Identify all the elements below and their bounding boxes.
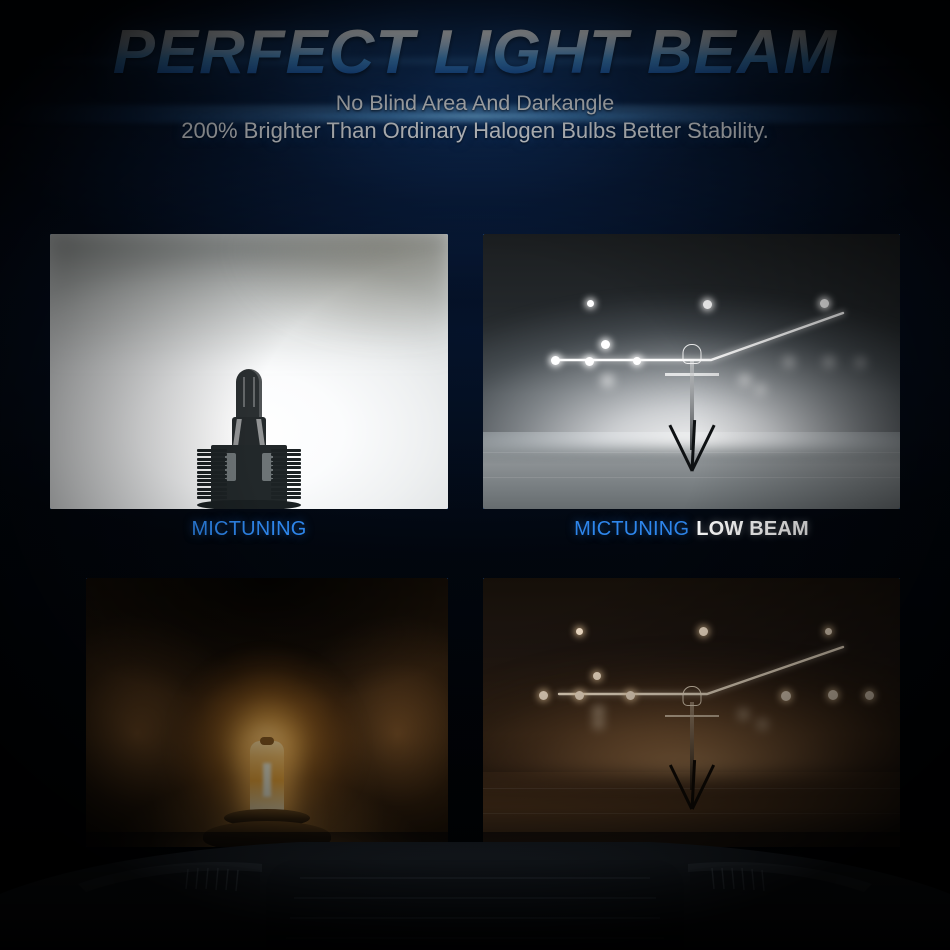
product-banner: PERFECT LIGHT BEAM No Blind Area And Dar… <box>0 0 950 950</box>
vignette-overlay <box>0 0 950 950</box>
